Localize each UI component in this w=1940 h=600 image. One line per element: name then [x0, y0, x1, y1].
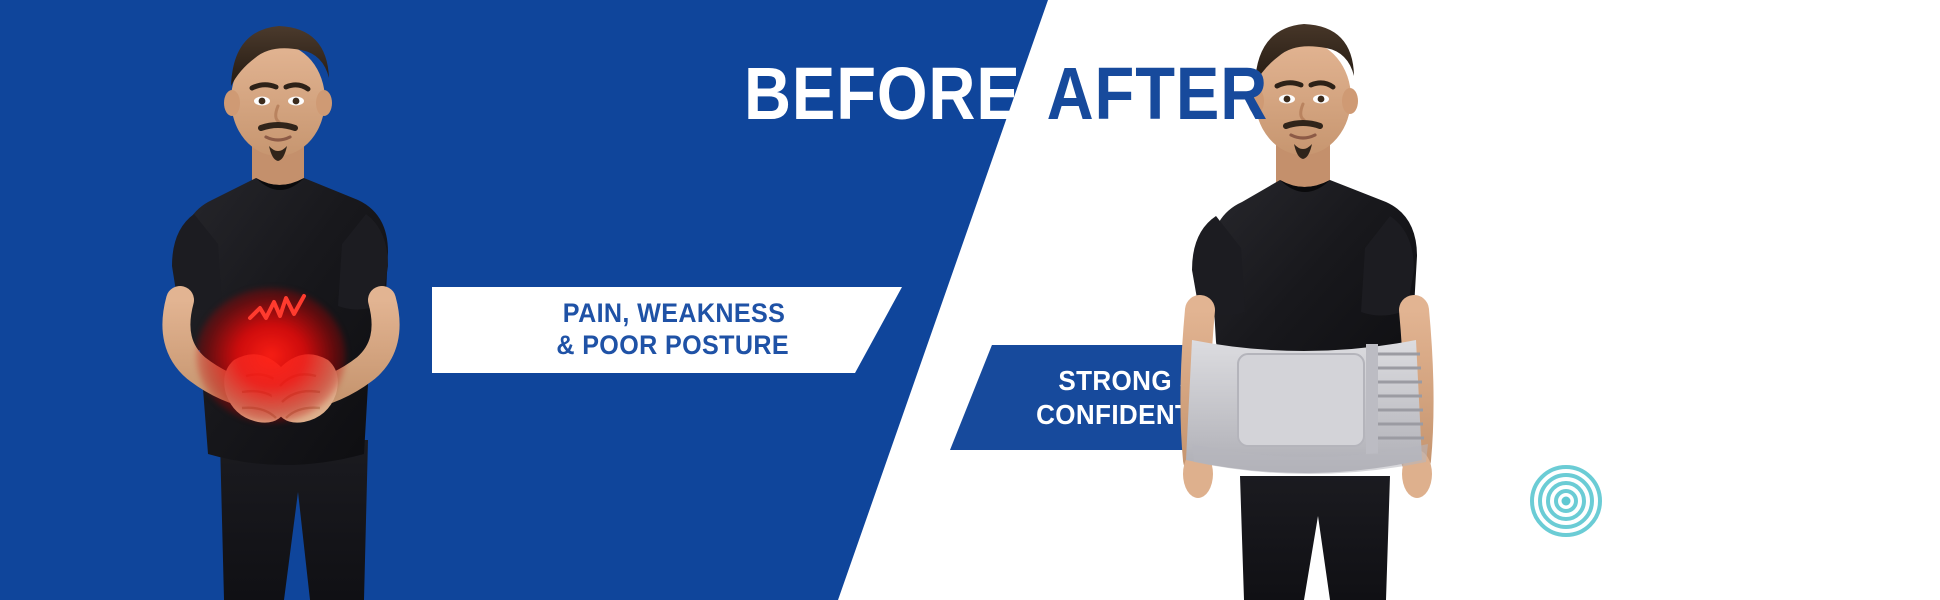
label-before-condition: PAIN, WEAKNESS & POOR POSTURE	[432, 287, 902, 373]
after-pants	[1240, 476, 1390, 600]
headline-separator: /	[1021, 57, 1047, 131]
abdominal-support-belt	[1186, 340, 1428, 474]
headline-after: AFTER	[1047, 57, 1268, 131]
before-after-banner: BEFORE / AFTER PAIN, WEAKNESS & POOR POS…	[0, 0, 1940, 600]
pain-bolt-icon	[246, 292, 316, 332]
label-before-line2: & POOR POSTURE	[545, 330, 789, 362]
headline: BEFORE / AFTER	[744, 56, 1268, 132]
headline-before: BEFORE	[744, 57, 1021, 131]
support-rings-icon	[1527, 462, 1605, 540]
label-before-line1: PAIN, WEAKNESS	[548, 298, 785, 330]
